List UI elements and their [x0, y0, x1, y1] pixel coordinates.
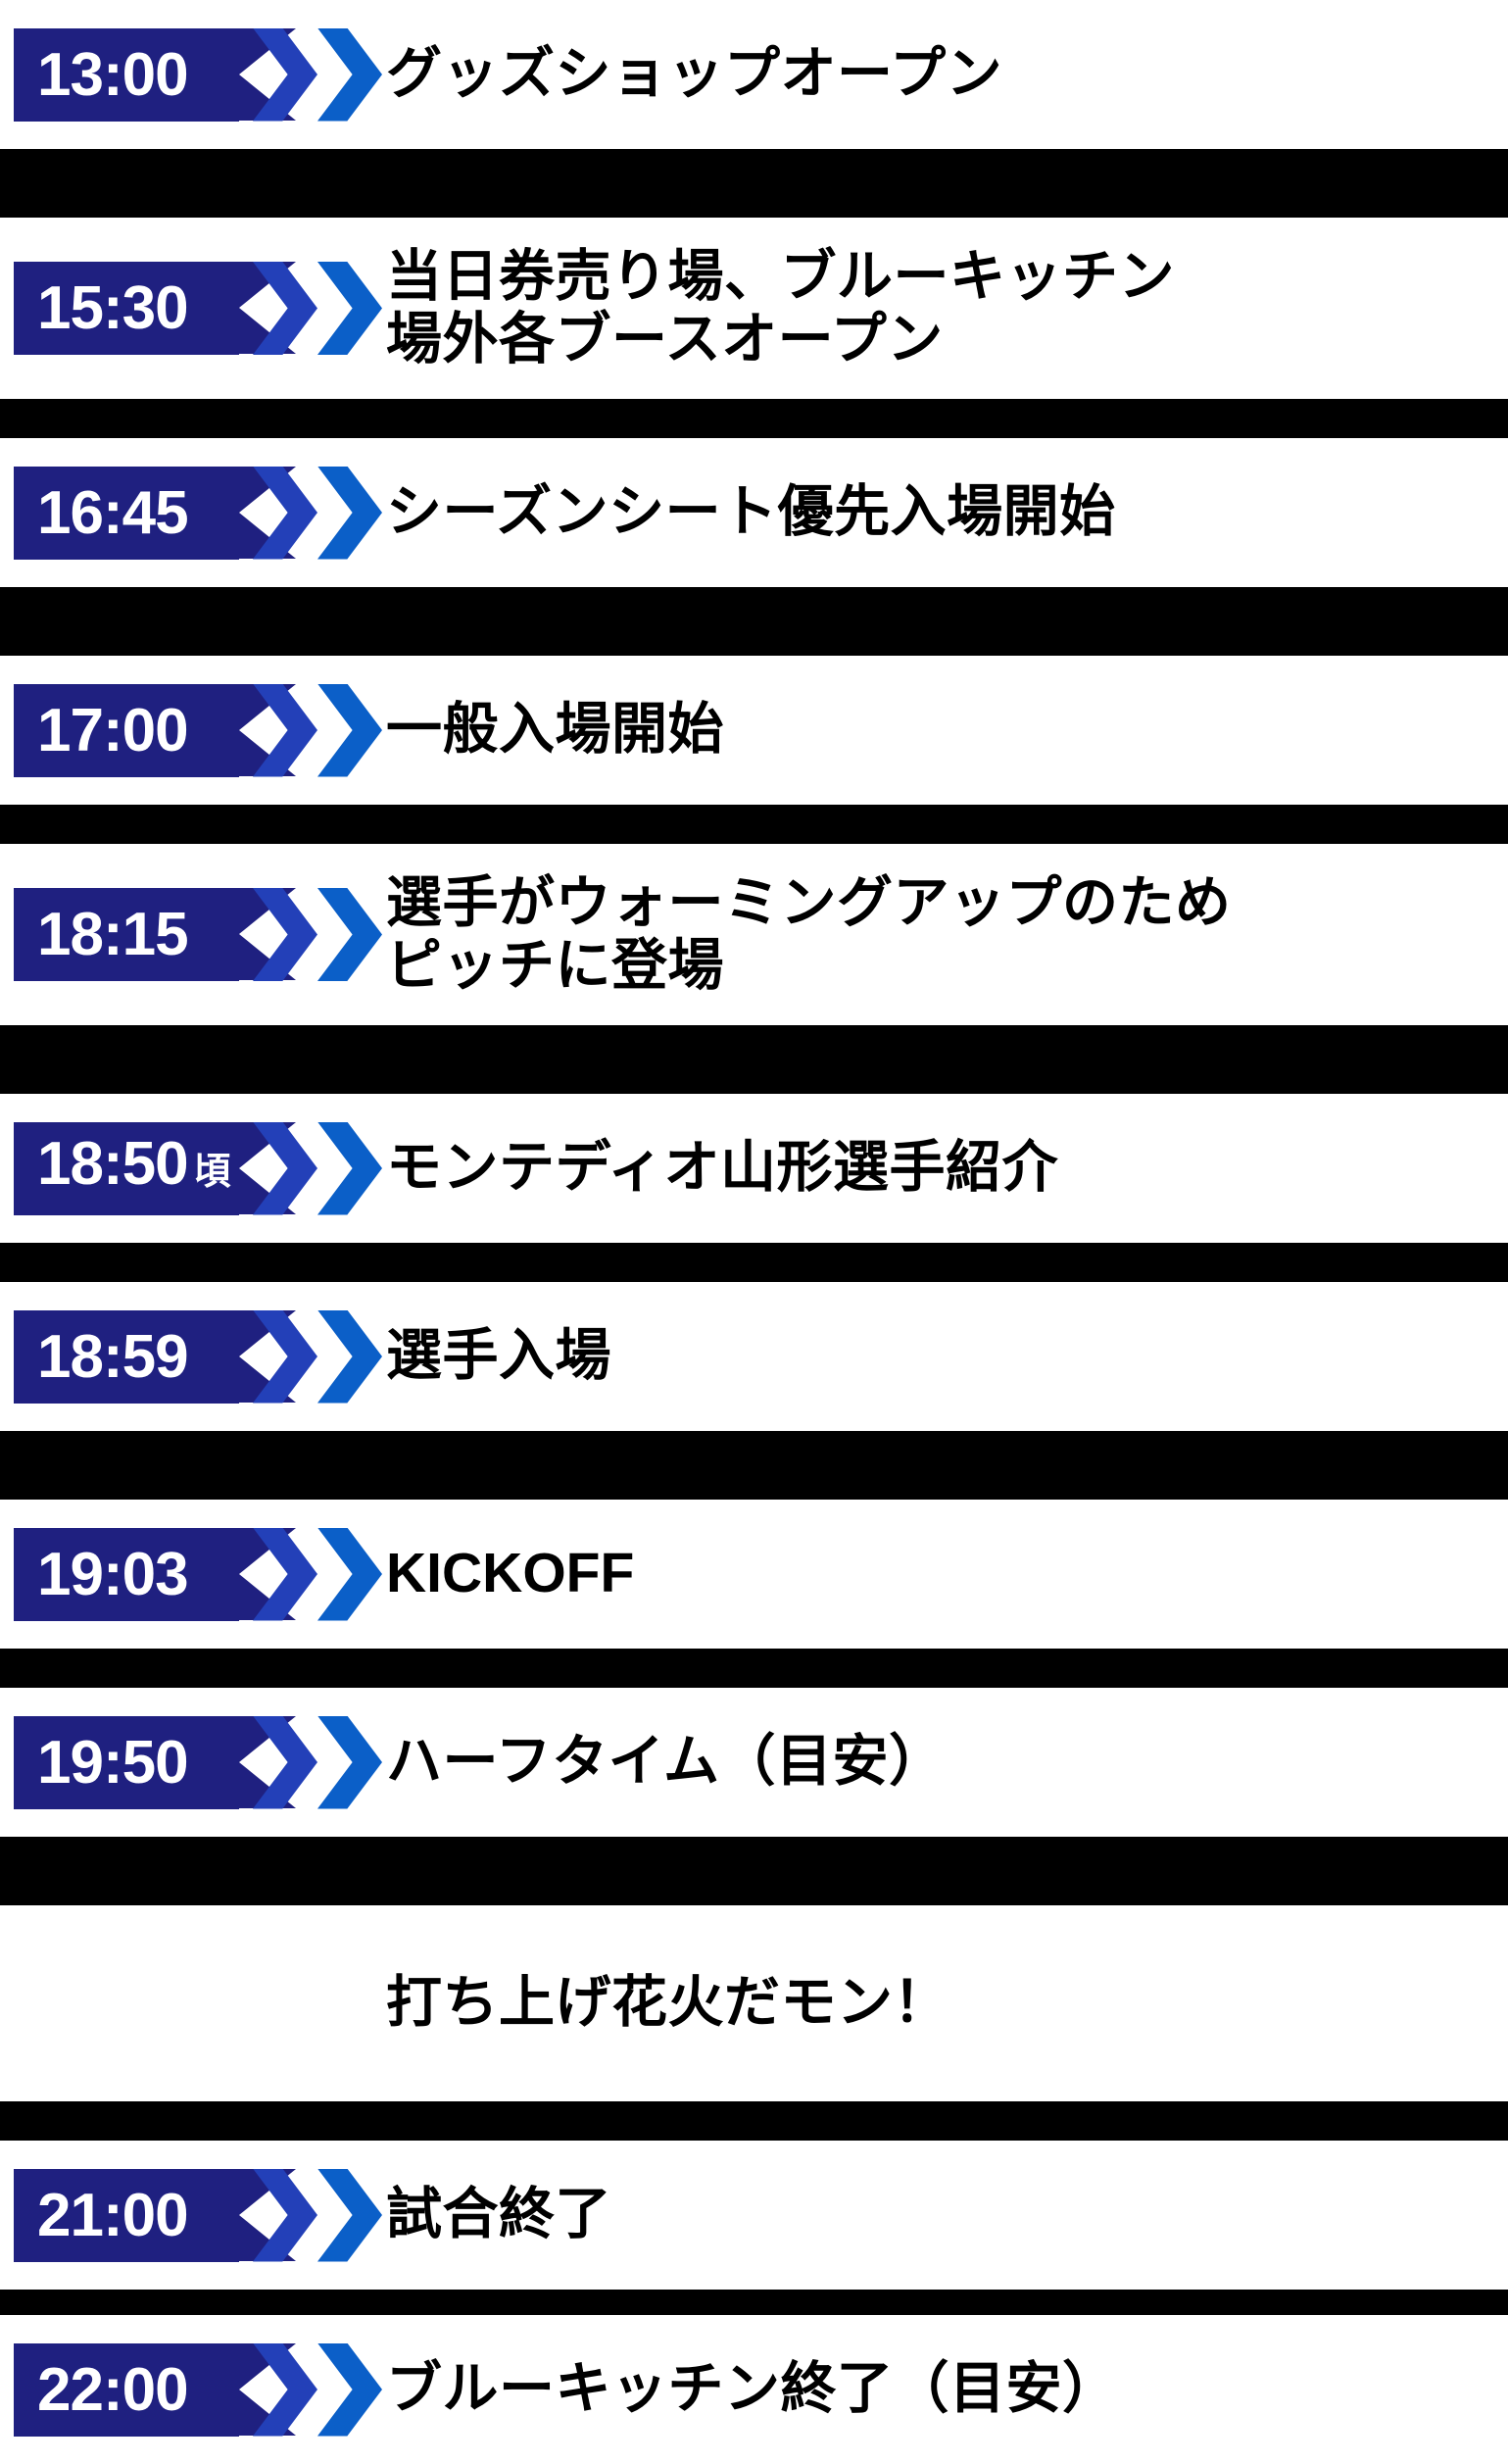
- chevron-right-icon: [317, 1122, 382, 1215]
- row-separator: [0, 1837, 1508, 1905]
- time-badge: 17:00: [14, 684, 362, 777]
- time-badge: 16:45: [14, 467, 362, 560]
- time-badge-group: 18:50頃: [0, 1094, 372, 1243]
- schedule-row: 19:50ハーフタイム（目安）: [0, 1688, 1508, 1837]
- time-badge: 18:50頃: [14, 1122, 362, 1215]
- chevron-right-icon: [317, 684, 382, 777]
- schedule-row: 21:00試合終了: [0, 2141, 1508, 2290]
- time-value: 21:00: [14, 2169, 188, 2262]
- time-value: 22:00: [14, 2343, 188, 2437]
- time-badge-group: 18:15: [0, 844, 372, 1025]
- schedule-row: 17:00一般入場開始: [0, 656, 1508, 805]
- schedule-row-label: 打ち上げ花火だモン！: [0, 1972, 1508, 2035]
- event-schedule-timeline: 13:00グッズショップオープン15:30当日券売り場、ブルーキッチン 場外各ブ…: [0, 0, 1508, 2314]
- time-badge-group: 19:50: [0, 1688, 372, 1837]
- time-value: 15:30: [14, 262, 188, 355]
- row-separator: [0, 2290, 1508, 2315]
- time-badge: 18:15: [14, 888, 362, 981]
- time-badge: 18:59: [14, 1310, 362, 1404]
- chevron-right-icon: [317, 467, 382, 560]
- time-value: 18:50頃: [14, 1117, 231, 1219]
- time-value: 19:03: [14, 1528, 188, 1621]
- schedule-row-label: グッズショップオープン: [372, 43, 1508, 106]
- time-badge-group: 19:03: [0, 1500, 372, 1649]
- schedule-row-label: ブルーキッチン終了（目安）: [372, 2358, 1508, 2421]
- time-value: 17:00: [14, 684, 188, 777]
- row-separator: [0, 1025, 1508, 1094]
- time-badge: 22:00: [14, 2343, 362, 2437]
- schedule-row-label: KICKOFF: [372, 1543, 1508, 1605]
- time-badge: 19:50: [14, 1716, 362, 1809]
- schedule-row: 18:59選手入場: [0, 1282, 1508, 1431]
- row-separator: [0, 805, 1508, 844]
- schedule-row-label: 一般入場開始: [372, 699, 1508, 762]
- time-badge-group: 18:59: [0, 1282, 372, 1431]
- time-value: 13:00: [14, 28, 188, 122]
- time-badge-group: 15:30: [0, 218, 372, 399]
- schedule-row: 16:45シーズンシート優先入場開始: [0, 438, 1508, 587]
- chevron-right-icon: [317, 2169, 382, 2262]
- schedule-row: 19:03KICKOFF: [0, 1500, 1508, 1649]
- time-suffix-label: 頃: [188, 1152, 231, 1193]
- schedule-row: 15:30当日券売り場、ブルーキッチン 場外各ブースオープン: [0, 218, 1508, 399]
- chevron-right-icon: [317, 1716, 382, 1809]
- time-value: 18:59: [14, 1310, 188, 1404]
- chevron-right-icon: [317, 28, 382, 122]
- row-separator: [0, 2101, 1508, 2141]
- row-separator: [0, 149, 1508, 218]
- time-badge-group: 16:45: [0, 438, 372, 587]
- chevron-right-icon: [317, 1528, 382, 1621]
- schedule-row-label: 当日券売り場、ブルーキッチン 場外各ブースオープン: [372, 246, 1508, 371]
- chevron-right-icon: [317, 2343, 382, 2437]
- row-separator: [0, 587, 1508, 656]
- row-separator: [0, 399, 1508, 438]
- time-badge-group: 22:00: [0, 2315, 372, 2464]
- schedule-row: 18:50頃モンテディオ山形選手紹介: [0, 1094, 1508, 1243]
- time-badge: 21:00: [14, 2169, 362, 2262]
- row-separator: [0, 1431, 1508, 1500]
- schedule-row-label: シーズンシート優先入場開始: [372, 481, 1508, 544]
- schedule-row: 18:15選手がウォーミングアップのため ピッチに登場: [0, 844, 1508, 1025]
- time-badge: 19:03: [14, 1528, 362, 1621]
- time-badge: 15:30: [14, 262, 362, 355]
- schedule-row-label: 選手入場: [372, 1325, 1508, 1388]
- row-separator: [0, 1649, 1508, 1688]
- time-badge-group: 13:00: [0, 0, 372, 149]
- chevron-right-icon: [317, 1310, 382, 1404]
- time-value: 16:45: [14, 467, 188, 560]
- time-badge-group: 21:00: [0, 2141, 372, 2290]
- time-value: 19:50: [14, 1716, 188, 1809]
- schedule-row-label: モンテディオ山形選手紹介: [372, 1137, 1508, 1200]
- schedule-row: 13:00グッズショップオープン: [0, 0, 1508, 149]
- schedule-row-label: 選手がウォーミングアップのため ピッチに登場: [372, 872, 1508, 998]
- schedule-row: 22:00ブルーキッチン終了（目安）: [0, 2315, 1508, 2464]
- schedule-row-label: 試合終了: [372, 2184, 1508, 2246]
- row-separator: [0, 1243, 1508, 1282]
- time-badge-group: 17:00: [0, 656, 372, 805]
- schedule-row-label: ハーフタイム（目安）: [372, 1731, 1508, 1794]
- time-value: 18:15: [14, 888, 188, 981]
- schedule-row: 打ち上げ花火だモン！: [0, 1905, 1508, 2101]
- time-badge: 13:00: [14, 28, 362, 122]
